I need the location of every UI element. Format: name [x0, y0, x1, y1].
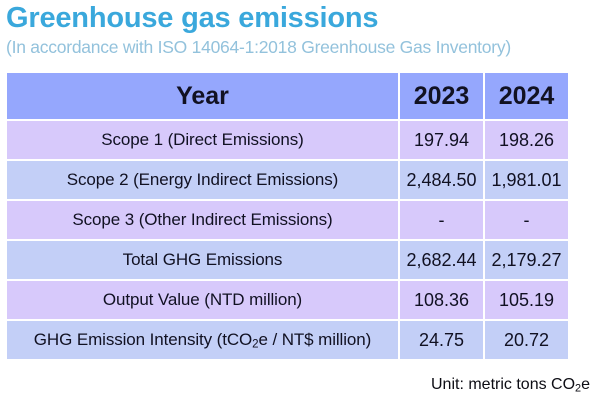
greenhouse-gas-emissions-table: Year 2023 2024 Scope 1 (Direct Emissions… [5, 71, 570, 361]
row-label: Scope 3 (Other Indirect Emissions) [7, 201, 398, 239]
table-row: Scope 1 (Direct Emissions)197.94198.26 [7, 121, 568, 159]
table-header-row: Year 2023 2024 [7, 73, 568, 119]
table-row: Output Value (NTD million)108.36105.19 [7, 281, 568, 319]
row-label: Scope 1 (Direct Emissions) [7, 121, 398, 159]
cell-value-2024: - [485, 201, 568, 239]
cell-value-2023: 197.94 [400, 121, 483, 159]
cell-value-2023: 2,484.50 [400, 161, 483, 199]
table-row: Scope 3 (Other Indirect Emissions)-- [7, 201, 568, 239]
row-label: Scope 2 (Energy Indirect Emissions) [7, 161, 398, 199]
row-label: GHG Emission Intensity (tCO2e / NT$ mill… [7, 321, 398, 359]
row-label: Output Value (NTD million) [7, 281, 398, 319]
cell-value-2023: 2,682.44 [400, 241, 483, 279]
page-title: Greenhouse gas emissions [6, 2, 378, 35]
cell-value-2023: - [400, 201, 483, 239]
table-row: Total GHG Emissions2,682.442,179.27 [7, 241, 568, 279]
table-header: Year 2023 2024 [7, 73, 568, 119]
table-row: GHG Emission Intensity (tCO2e / NT$ mill… [7, 321, 568, 359]
page-subtitle: (In accordance with ISO 14064-1:2018 Gre… [6, 37, 511, 58]
cell-value-2024: 20.72 [485, 321, 568, 359]
cell-value-2024: 2,179.27 [485, 241, 568, 279]
cell-value-2023: 24.75 [400, 321, 483, 359]
cell-value-2024: 105.19 [485, 281, 568, 319]
column-header-2024: 2024 [485, 73, 568, 119]
cell-value-2024: 198.26 [485, 121, 568, 159]
cell-value-2023: 108.36 [400, 281, 483, 319]
cell-value-2024: 1,981.01 [485, 161, 568, 199]
unit-note: Unit: metric tons CO2e [431, 376, 590, 394]
column-header-year: Year [7, 73, 398, 119]
column-header-2023: 2023 [400, 73, 483, 119]
row-label: Total GHG Emissions [7, 241, 398, 279]
table-body: Scope 1 (Direct Emissions)197.94198.26Sc… [7, 121, 568, 359]
table-row: Scope 2 (Energy Indirect Emissions)2,484… [7, 161, 568, 199]
